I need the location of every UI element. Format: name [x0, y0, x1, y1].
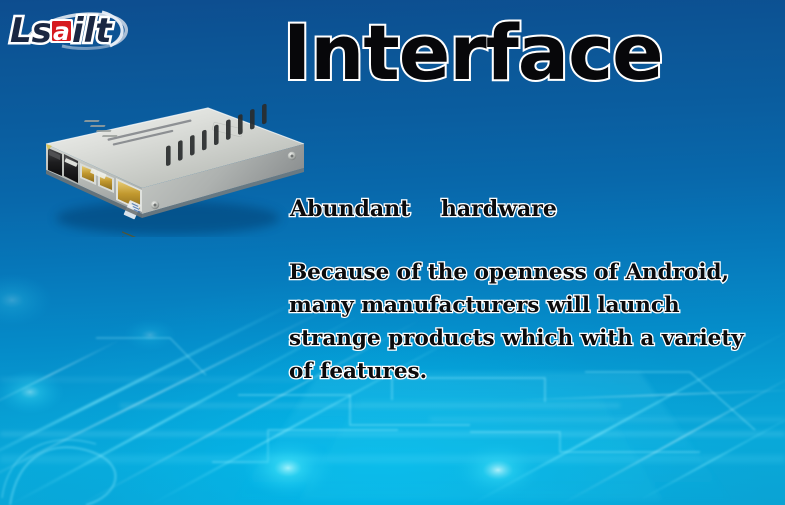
paragraph-line: of features.: [289, 355, 759, 388]
lsailt-logo[interactable]: Ls Ls a ilt ilt: [6, 6, 138, 54]
paragraph-line: strange products which with a variety: [289, 322, 759, 355]
paragraph-line: many manufacturers will launch: [289, 289, 759, 322]
lsailt-logo-graphic: Ls Ls a ilt ilt: [6, 6, 138, 54]
background-glow-right: [454, 442, 542, 498]
slide-canvas: Ls Ls a ilt ilt: [0, 0, 785, 505]
page-title: Interface: [283, 13, 663, 93]
paragraph-line: Because of the openness of Android,: [289, 256, 759, 289]
video-interface-box-photo: [18, 92, 308, 237]
subhead-abundant-hardware: Abundant hardware: [290, 196, 557, 222]
svg-text:a: a: [53, 17, 70, 46]
device-graphic: [18, 92, 308, 237]
background-glow-left: [242, 438, 334, 498]
svg-text:Ls: Ls: [10, 11, 52, 51]
svg-text:ilt: ilt: [72, 11, 113, 51]
body-paragraph: Because of the openness of Android, many…: [289, 256, 759, 388]
